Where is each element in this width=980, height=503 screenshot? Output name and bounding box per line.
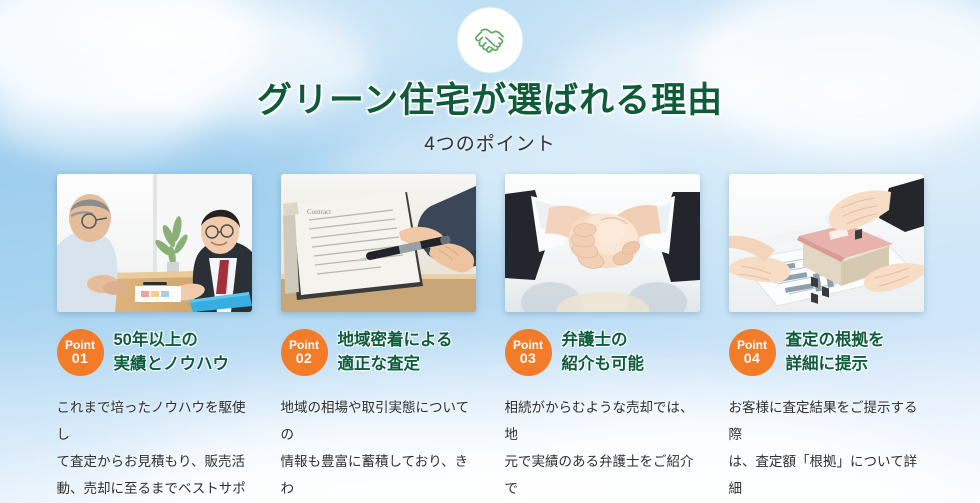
point-title: 50年以上の 実績とノウハウ: [114, 329, 230, 375]
point-photo-consultation: [57, 174, 252, 312]
handshake-icon: [458, 8, 522, 72]
point-heading-row: Point 01 50年以上の 実績とノウハウ: [57, 329, 252, 376]
page-title: グリーン住宅が選ばれる理由: [0, 80, 980, 122]
point-card[interactable]: Point 04 査定の根拠を 詳細に提示 お客様に査定結果をご提示する際 は、…: [729, 174, 924, 503]
badge-number: 03: [520, 351, 537, 366]
point-photo-handshake: [505, 174, 700, 312]
badge-number: 02: [296, 351, 313, 366]
points-list: Point 01 50年以上の 実績とノウハウ これまで培ったノウハウを駆使し …: [0, 174, 980, 503]
point-photo-contract: Contract: [281, 174, 476, 312]
badge-number: 01: [72, 351, 89, 366]
point-body: お客様に査定結果をご提示する際 は、査定額「根拠」について詳細 を書面にしてご報…: [729, 394, 924, 503]
page-subtitle: 4つのポイント: [0, 129, 980, 156]
point-body: 地域の相場や取引実態についての 情報も豊富に蓄積しており、きわ めて精度の高い物…: [281, 394, 476, 503]
point-title: 地域密着による 適正な査定: [338, 329, 453, 375]
point-card[interactable]: Contract: [281, 174, 476, 503]
point-badge: Point 01: [57, 329, 104, 376]
badge-number: 04: [744, 351, 761, 366]
point-badge: Point 04: [729, 329, 776, 376]
point-badge: Point 02: [281, 329, 328, 376]
point-heading-row: Point 04 査定の根拠を 詳細に提示: [729, 329, 924, 376]
point-title: 弁護士の 紹介も可能: [562, 329, 645, 375]
point-heading-row: Point 03 弁護士の 紹介も可能: [505, 329, 700, 376]
point-body: これまで培ったノウハウを駆使し て査定からお見積もり、販売活 動、売却に至るまで…: [57, 394, 252, 503]
point-badge: Point 03: [505, 329, 552, 376]
page-root: グリーン住宅が選ばれる理由 4つのポイント: [0, 0, 980, 503]
point-card[interactable]: Point 03 弁護士の 紹介も可能 相続がからむような売却では、地 元で実績…: [505, 174, 700, 503]
point-heading-row: Point 02 地域密着による 適正な査定: [281, 329, 476, 376]
section-header: グリーン住宅が選ばれる理由 4つのポイント: [0, 0, 980, 156]
point-photo-house-model: [729, 174, 924, 312]
point-title: 査定の根拠を 詳細に提示: [786, 329, 885, 375]
point-body: 相続がからむような売却では、地 元で実績のある弁護士をご紹介で きます。ぜひ、お…: [505, 394, 700, 503]
point-card[interactable]: Point 01 50年以上の 実績とノウハウ これまで培ったノウハウを駆使し …: [57, 174, 252, 503]
svg-text:Contract: Contract: [307, 208, 331, 216]
